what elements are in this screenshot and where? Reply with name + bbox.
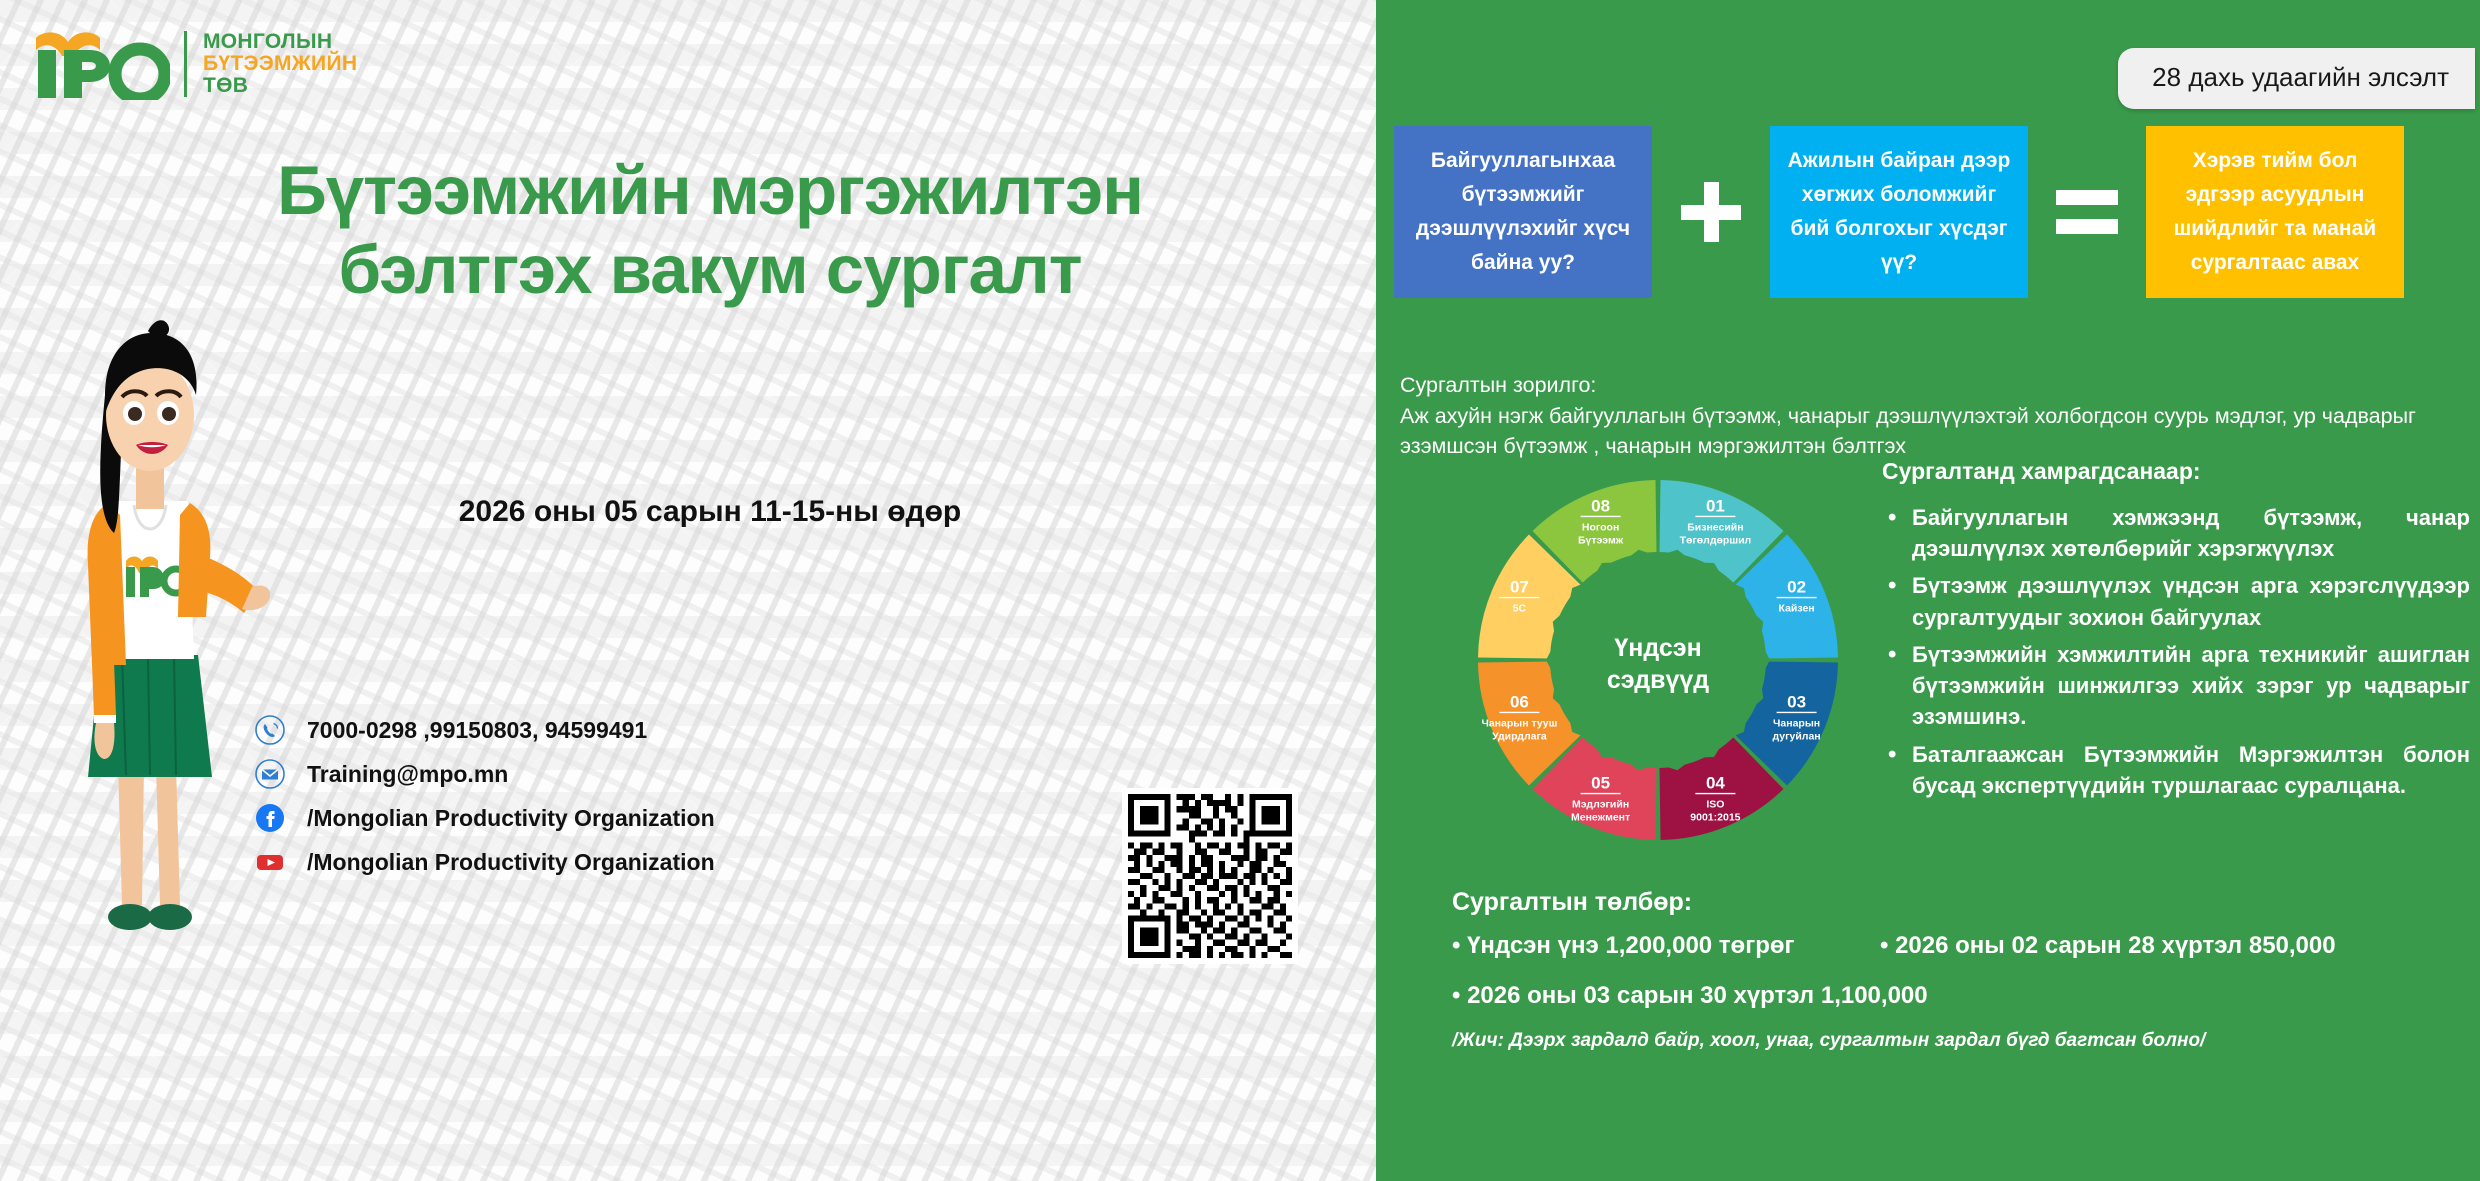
wheel-segment-label: Чанарын тууш — [1481, 717, 1557, 729]
wheel-segment-label: Кайзен — [1779, 603, 1815, 615]
plus-operator-icon — [1652, 182, 1770, 242]
price-title: Сургалтын төлбөр: — [1452, 888, 1692, 917]
goal-title: Сургалтын зорилго: — [1400, 370, 2460, 401]
wheel-segment-label: Менежмент — [1571, 812, 1630, 824]
value-equation: Байгууллагынхаа бүтээмжийг дээшлүүлэхийг… — [1394, 126, 2466, 298]
mpo-logo[interactable]: МОНГОЛЫН БҮТЭЭМЖИЙН ТӨВ — [30, 28, 357, 100]
contact-row-youtube[interactable]: /Mongolian Productivity Organization — [255, 847, 715, 877]
intake-badge: 28 дахь удаагийн элсэлт — [2118, 48, 2475, 109]
benefits-title: Сургалтанд хамрагдсанаар: — [1882, 458, 2201, 485]
wheel-center-label: сэдвүүд — [1607, 666, 1709, 694]
left-panel: МОНГОЛЫН БҮТЭЭМЖИЙН ТӨВ Бүтээмжийн мэргэ… — [0, 0, 1376, 1181]
logo-line-1: МОНГОЛЫН — [203, 31, 357, 53]
goal-body: Аж ахуйн нэгж байгууллагын бүтээмж, чана… — [1400, 401, 2460, 462]
contact-row-facebook[interactable]: /Mongolian Productivity Organization — [255, 803, 715, 833]
wheel-segment-number: 03 — [1787, 692, 1806, 711]
wheel-segment-label: Бүтээмж — [1578, 534, 1624, 546]
logo-line-2: БҮТЭЭМЖИЙН — [203, 53, 357, 75]
facebook-icon — [255, 803, 285, 833]
wheel-segment-number: 02 — [1787, 578, 1806, 597]
mpo-logo-mark-icon — [30, 28, 170, 100]
wheel-segment-label: Удирдлага — [1492, 730, 1547, 742]
equation-box-2: Ажилын байран дээр хөгжих боломжийг бий … — [1770, 126, 2028, 298]
wheel-segment-label: 5C — [1513, 603, 1527, 615]
facebook-page: /Mongolian Productivity Organization — [307, 805, 715, 832]
contact-row-phone[interactable]: 7000-0298 ,99150803, 94599491 — [255, 715, 715, 745]
wheel-segment-label: Чанарын — [1773, 717, 1820, 729]
phone-icon — [255, 715, 285, 745]
price-item-earlybird-feb: • 2026 оны 02 сарын 28 хүртэл 850,000 — [1880, 932, 2336, 960]
youtube-channel: /Mongolian Productivity Organization — [307, 849, 715, 876]
contact-list: 7000-0298 ,99150803, 94599491 Training@m… — [255, 715, 715, 877]
page-title: Бүтээмжийн мэргэжилтэн бэлтгэх вакум сур… — [270, 152, 1150, 309]
price-item-base: • Үндсэн үнэ 1,200,000 төгрөг — [1452, 932, 1795, 960]
poster-root: МОНГОЛЫН БҮТЭЭМЖИЙН ТӨВ Бүтээмжийн мэргэ… — [0, 0, 2480, 1181]
wheel-segment-label: 9001:2015 — [1690, 812, 1740, 824]
benefit-item: Баталгаажсан Бүтээмжийн Мэргэжилтэн боло… — [1882, 739, 2470, 801]
qr-code[interactable] — [1122, 788, 1298, 964]
wheel-center-label: Үндсэн — [1614, 634, 1701, 662]
wheel-segment-number: 01 — [1706, 496, 1725, 515]
wheel-segment-label: Бизнесийн — [1687, 521, 1743, 533]
training-goal: Сургалтын зорилго: Аж ахуйн нэгж байгуул… — [1400, 370, 2460, 462]
benefit-item: Байгууллагын хэмжээнд бүтээмж, чанар дээ… — [1882, 502, 2470, 564]
mpo-logo-wordmark: МОНГОЛЫН БҮТЭЭМЖИЙН ТӨВ — [184, 31, 357, 98]
wheel-segment-number: 06 — [1510, 692, 1529, 711]
wheel-segment-number: 05 — [1591, 774, 1610, 793]
phone-numbers: 7000-0298 ,99150803, 94599491 — [307, 717, 647, 744]
benefits-list: Байгууллагын хэмжээнд бүтээмж, чанар дээ… — [1882, 502, 2470, 807]
wheel-segment-label: дугуйлан — [1773, 730, 1821, 742]
email-icon — [255, 759, 285, 789]
topics-wheel-chart: 01БизнесийнТөгөлдөршил02Кайзен03Чанарынд… — [1476, 478, 1840, 842]
wheel-segment-number: 07 — [1510, 578, 1529, 597]
presenter-illustration — [30, 265, 270, 965]
benefit-item: Бүтээмж дээшлүүлэх үндсэн арга хэрэгслүү… — [1882, 570, 2470, 632]
equation-box-1: Байгууллагынхаа бүтээмжийг дээшлүүлэхийг… — [1394, 126, 1652, 298]
wheel-segment-label: Төгөлдөршил — [1680, 534, 1752, 546]
contact-row-email[interactable]: Training@mpo.mn — [255, 759, 715, 789]
wheel-segment-number: 08 — [1591, 496, 1610, 515]
equals-operator-icon — [2028, 190, 2146, 234]
wheel-segment-label: ISO — [1706, 799, 1724, 811]
logo-line-3: ТӨВ — [203, 75, 357, 97]
price-item-earlybird-mar: • 2026 оны 03 сарын 30 хүртэл 1,100,000 — [1452, 982, 1928, 1010]
youtube-icon — [255, 847, 285, 877]
wheel-segment-number: 04 — [1706, 774, 1725, 793]
wheel-segment-label: Мэдлэгийн — [1572, 799, 1629, 811]
wheel-segment-label: Ногоон — [1582, 521, 1619, 533]
equation-box-3: Хэрэв тийм бол эдгээр асуудлын шийдлийг … — [2146, 126, 2404, 298]
training-date: 2026 оны 05 сарын 11-15-ны өдөр — [270, 495, 1150, 529]
benefit-item: Бүтээмжийн хэмжилтийн арга техникийг аши… — [1882, 639, 2470, 733]
price-note: /Жич: Дээрх зардалд байр, хоол, унаа, су… — [1452, 1030, 2205, 1052]
email-address: Training@mpo.mn — [307, 761, 508, 788]
